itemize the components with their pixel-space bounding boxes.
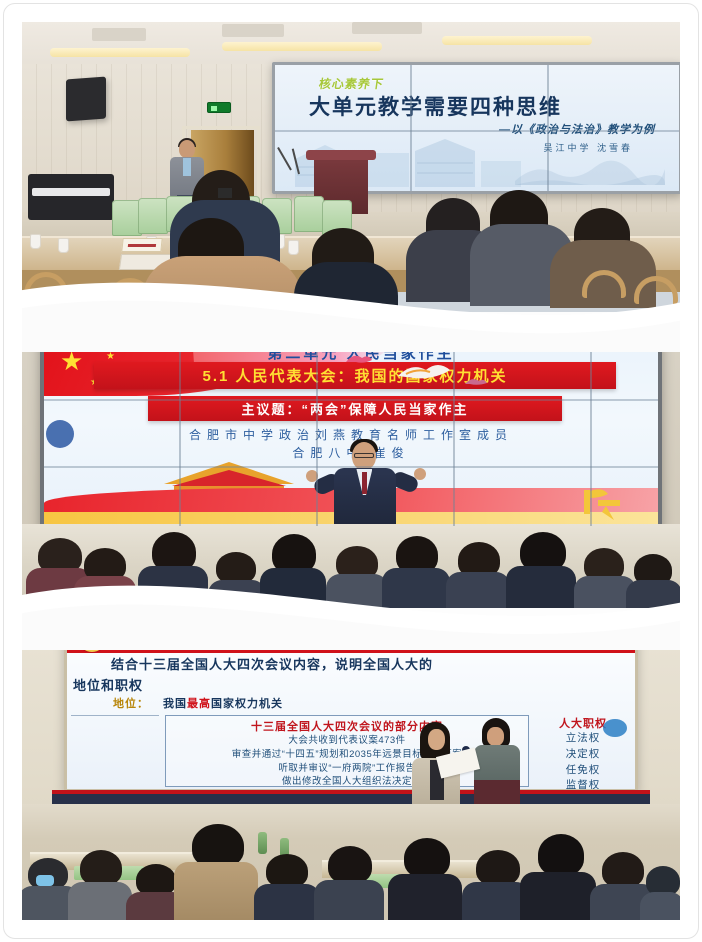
glasses-icon <box>354 453 374 458</box>
ceiling-panel <box>222 24 284 37</box>
ceiling-panel <box>352 22 422 34</box>
power-item: 决定权 <box>535 747 631 763</box>
cove-light <box>222 42 382 51</box>
paper-cup <box>58 238 69 253</box>
slide1-title: 大单元教学需要四种思维 <box>309 91 671 121</box>
dove-icon <box>464 374 488 388</box>
paper-cup <box>30 234 41 249</box>
flag-star-small: ★ <box>92 340 101 350</box>
party-emblem-icon <box>576 480 632 524</box>
page-margin-top <box>0 0 702 22</box>
table-header: 十三届全国人大四次会议的部分内容 <box>170 718 524 734</box>
necktie <box>362 472 367 494</box>
equipment-cabinet <box>28 174 114 220</box>
slide1-landscape-art <box>515 151 665 185</box>
head <box>428 729 445 750</box>
slide-2: ★ ★ ★ ★ ★ 第二单元 人民当家作主 5.1 人民代表大会：我国的国家权力… <box>44 334 658 526</box>
slide3-question-line2: 地位和职权 <box>73 675 143 694</box>
slide1-kicker: 核心素养下 <box>318 75 385 92</box>
camera-icon <box>611 635 625 644</box>
power-item: 监督权 <box>535 778 631 789</box>
water-bottle <box>258 832 267 854</box>
page-margin-bottom <box>0 920 702 942</box>
table-row: 大会共收到代表议案473件 <box>170 734 524 748</box>
photo-3-classroom-interaction: 理解人大代表的知识 结合十三届全国人大四次会议内容，说明全国人大的 地位和职权 … <box>22 618 680 920</box>
page-margin-right <box>680 0 702 942</box>
photo-collage: 核心素养下 大单元教学需要四种思维 —以《政治与法治》教学为例 吴江中学 沈雪春 <box>0 0 702 942</box>
dove-icon <box>396 358 452 384</box>
status-suffix: 国家权力机关 <box>211 698 283 710</box>
slide3-status-label: 地位： <box>113 695 149 711</box>
slide-3: 理解人大代表的知识 结合十三届全国人大四次会议内容，说明全国人大的 地位和职权 … <box>67 627 635 789</box>
projection-screen-frame: 理解人大代表的知识 结合十三届全国人大四次会议内容，说明全国人大的 地位和职权 … <box>64 624 638 792</box>
page-margin-left <box>0 0 22 942</box>
slide3-content-table: 十三届全国人大四次会议的部分内容 大会共收到代表议案473件 审查并通过“十四五… <box>71 715 631 787</box>
table-left-spacer <box>71 715 159 787</box>
paper-cup <box>288 240 299 255</box>
slide2-main-topic: 主议题：“两会”保障人民当家作主 <box>148 396 562 421</box>
table-row: 做出修改全国人大组织法决定 <box>170 775 524 789</box>
student-audience-row <box>22 524 680 608</box>
right-hand <box>414 468 426 480</box>
dove-icon <box>344 350 374 368</box>
national-emblem-icon <box>79 628 105 652</box>
flag-star-small: ★ <box>106 352 115 362</box>
status-highlight: 最高 <box>187 698 211 710</box>
head <box>487 727 504 746</box>
power-item: 任免权 <box>535 763 631 779</box>
podcast-logo-icon <box>46 420 74 448</box>
slide3-question-line1: 结合十三届全国人大四次会议内容，说明全国人大的 <box>111 657 625 673</box>
slide3-bar-title: 理解人大代表的知识 <box>115 631 259 652</box>
ceiling-panel <box>92 28 146 41</box>
student-answering <box>474 718 520 814</box>
flag-star-large: ★ <box>60 348 83 374</box>
watermark-logo-icon <box>603 719 627 737</box>
face-mask <box>36 875 54 886</box>
shirt <box>183 158 191 176</box>
slide3-status-value: 我国最高国家权力机关 <box>163 695 283 711</box>
head <box>179 140 195 158</box>
exit-sign-icon <box>207 102 231 113</box>
student-desk-rows <box>22 804 680 920</box>
table-nameplate <box>121 238 162 252</box>
photo-1-conference-room: 核心素养下 大单元教学需要四种思维 —以《政治与法治》教学为例 吴江中学 沈雪春 <box>22 22 680 312</box>
cove-light <box>442 36 592 45</box>
wall-speaker <box>66 77 106 122</box>
glasses-icon <box>218 188 232 198</box>
audience-body <box>294 262 398 312</box>
cove-light <box>50 48 190 57</box>
status-prefix: 我国 <box>163 698 187 710</box>
slide2-org-line: 合肥市中学政治刘燕教育名师工作室成员 <box>44 426 658 443</box>
audience-body <box>142 256 302 312</box>
video-wall-bezel: ★ ★ ★ ★ ★ 第二单元 人民当家作主 5.1 人民代表大会：我国的国家权力… <box>40 330 662 530</box>
presenting-teacher <box>326 442 404 526</box>
photo-2-classroom-presentation: ★ ★ ★ ★ ★ 第二单元 人民当家作主 5.1 人民代表大会：我国的国家权力… <box>22 322 680 608</box>
